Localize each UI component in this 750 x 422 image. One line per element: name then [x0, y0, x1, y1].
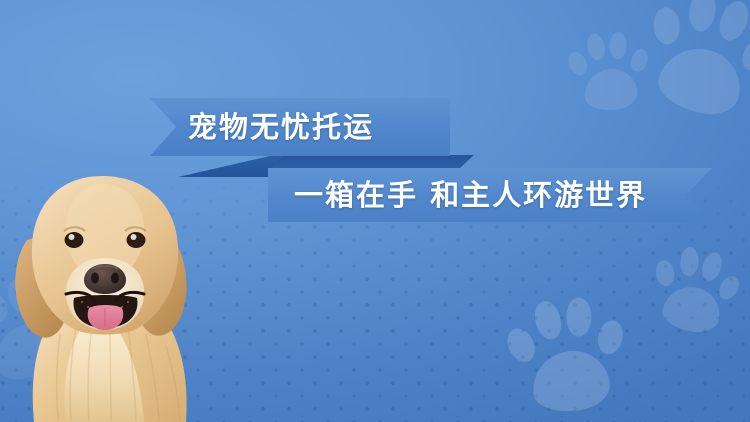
banner-canvas: 宠物无忧托运 一箱在手 和主人环游世界 — [0, 0, 750, 422]
headline-secondary-text: 一箱在手 和主人环游世界 — [294, 168, 647, 222]
headline-banner-secondary: 一箱在手 和主人环游世界 — [268, 168, 712, 222]
paw-print-icon — [564, 20, 659, 118]
paw-print-icon — [631, 0, 750, 134]
banner-two-fold — [268, 155, 474, 170]
golden-retriever-photo — [0, 122, 224, 422]
paw-print-icon — [644, 233, 750, 344]
paw-print-icon — [500, 278, 641, 422]
